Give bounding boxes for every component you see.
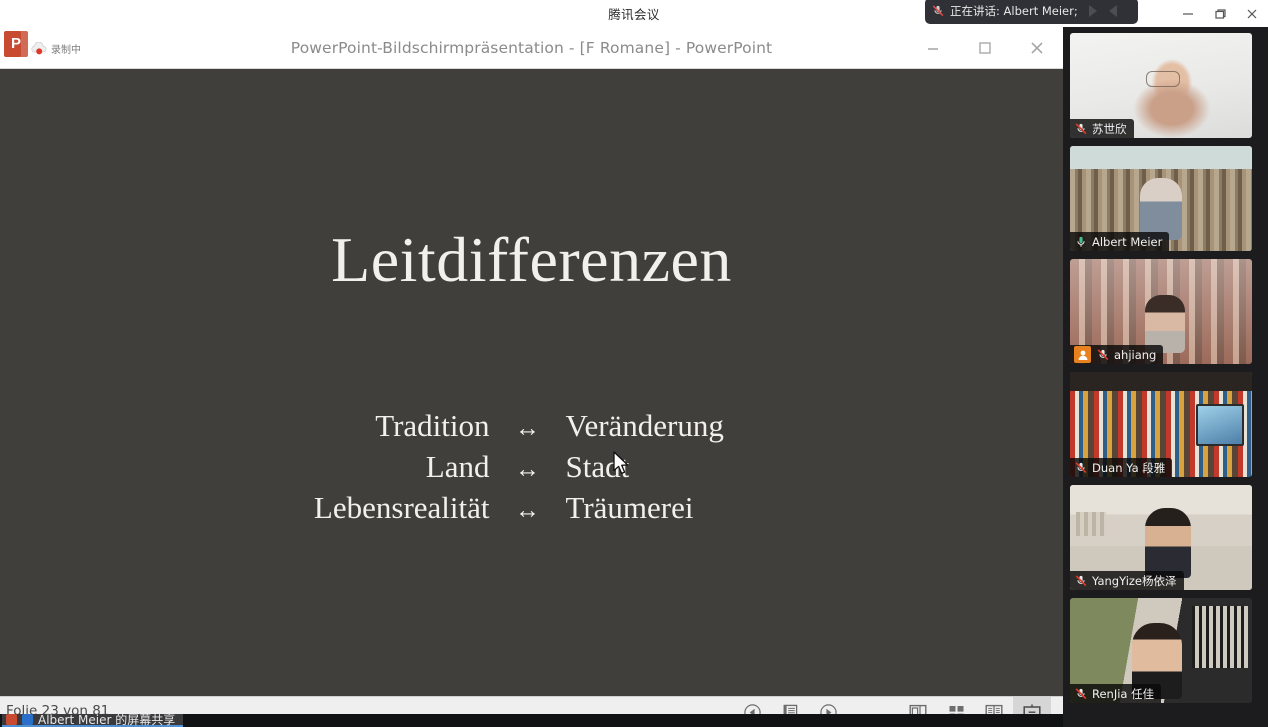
slide-pair-row: Land ↔ Stadt (0, 448, 1063, 488)
participant-tile[interactable]: YangYize杨依泽 (1070, 485, 1252, 590)
pair-right-term: Stadt (566, 448, 796, 485)
participant-tile[interactable]: Duan Ya 段雅 (1070, 372, 1252, 477)
powerpoint-window: P 录制中 PowerPoint-Bildschirmpräsentation … (0, 27, 1063, 727)
mic-muted-icon (1074, 461, 1088, 475)
close-icon[interactable] (1236, 0, 1268, 27)
bidirectional-arrow-icon: ↔ (490, 492, 566, 529)
slide-title: Leitdifferenzen (0, 223, 1063, 297)
participant-name: ahjiang (1114, 348, 1156, 362)
participant-name-chip: Duan Ya 段雅 (1070, 458, 1172, 477)
mic-muted-icon (1096, 348, 1110, 362)
participant-name-chip: YangYize杨依泽 (1070, 571, 1184, 590)
mic-muted-icon (1074, 687, 1088, 701)
powerpoint-window-controls (907, 27, 1063, 69)
pill-chevrons[interactable] (1085, 4, 1121, 18)
chevron-left-icon[interactable] (1085, 4, 1102, 18)
mic-active-icon (1074, 235, 1088, 249)
mic-muted-icon (1074, 574, 1088, 588)
participant-name: YangYize杨依泽 (1092, 573, 1177, 589)
taskbar-powerpoint-icon (6, 714, 17, 725)
participant-tile[interactable]: Albert Meier (1070, 146, 1252, 251)
speaking-indicator[interactable]: 正在讲话: Albert Meier; (925, 0, 1138, 24)
host-badge-icon (1074, 346, 1091, 363)
powerpoint-icon: P (4, 31, 28, 57)
meeting-app-title: 腾讯会议 (608, 4, 660, 23)
meeting-window-controls (1172, 0, 1268, 27)
taskbar-item-screenshare[interactable]: Albert Meier 的屏幕共享 (2, 714, 183, 727)
ppt-restore-icon[interactable] (959, 27, 1011, 69)
participant-tile[interactable]: 苏世欣 (1070, 33, 1252, 138)
mic-muted-icon (1074, 122, 1088, 136)
taskbar-item-label: Albert Meier 的屏幕共享 (38, 714, 175, 726)
pair-left-term: Lebensrealität (268, 489, 490, 526)
pair-right-term: Veränderung (566, 407, 796, 444)
participant-name-chip: ahjiang (1070, 345, 1163, 364)
slide-pair-row: Lebensrealität ↔ Träumerei (0, 489, 1063, 529)
ppt-minimize-icon[interactable] (907, 27, 959, 69)
pair-left-term: Land (268, 448, 490, 485)
speaking-indicator-text: 正在讲话: Albert Meier; (950, 3, 1078, 19)
restore-icon[interactable] (1204, 0, 1236, 27)
recording-dot-icon (31, 42, 49, 56)
screen-root: 腾讯会议 正在讲话: Al (0, 0, 1268, 727)
participant-name: Albert Meier (1092, 235, 1162, 249)
slide-canvas[interactable]: Leitdifferenzen Tradition ↔ Veränderung … (0, 69, 1063, 727)
recording-label: 录制中 (51, 41, 81, 56)
participant-name-chip: Albert Meier (1070, 232, 1169, 251)
slide-pair-row: Tradition ↔ Veränderung (0, 407, 1063, 447)
bidirectional-arrow-icon: ↔ (490, 451, 566, 488)
participant-name: RenJia 任佳 (1092, 686, 1154, 702)
mouse-cursor-icon (612, 451, 630, 477)
mic-muted-icon (931, 4, 945, 18)
powerpoint-titlebar: P 录制中 PowerPoint-Bildschirmpräsentation … (0, 27, 1063, 69)
powerpoint-icon-group: P 录制中 (4, 31, 81, 57)
powerpoint-window-title: PowerPoint-Bildschirmpräsentation - [F R… (0, 39, 1063, 57)
windows-taskbar: Albert Meier 的屏幕共享 (0, 714, 1063, 727)
bidirectional-arrow-icon: ↔ (490, 410, 566, 447)
participant-name-chip: RenJia 任佳 (1070, 684, 1161, 703)
taskbar-meeting-icon (22, 714, 33, 725)
participant-video-strip[interactable]: 苏世欣 Albert Meier (1063, 27, 1268, 727)
chevron-right-icon[interactable] (1104, 4, 1121, 18)
pair-right-term: Träumerei (566, 489, 796, 526)
ppt-close-icon[interactable] (1011, 27, 1063, 69)
minimize-icon[interactable] (1172, 0, 1204, 27)
participant-name: 苏世欣 (1092, 121, 1127, 137)
pair-left-term: Tradition (268, 407, 490, 444)
participant-tile[interactable]: ahjiang (1070, 259, 1252, 364)
participant-name: Duan Ya 段雅 (1092, 460, 1165, 476)
recording-badge: 录制中 (31, 41, 81, 56)
participant-tile[interactable]: RenJia 任佳 (1070, 598, 1252, 703)
participant-name-chip: 苏世欣 (1070, 119, 1134, 138)
slide-pair-list: Tradition ↔ Veränderung Land ↔ Stadt Leb… (0, 407, 1063, 529)
